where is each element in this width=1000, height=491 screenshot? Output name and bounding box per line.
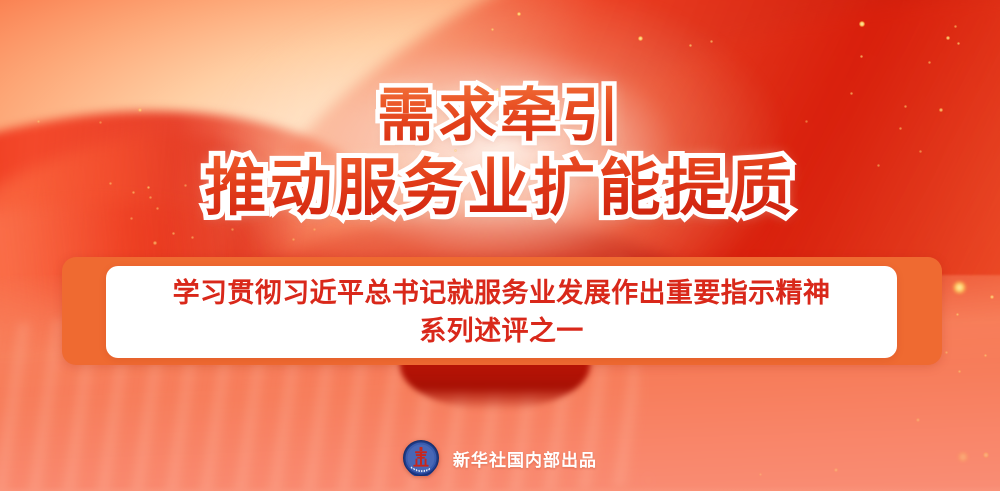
banner-poster: 需求牵引 需求牵引 推动服务业扩能提质 推动服务业扩能提质 学习贯彻习近平总书记…	[0, 0, 1000, 491]
headline-line-2-fill: 推动服务业扩能提质	[204, 154, 795, 223]
headline-line-2: 推动服务业扩能提质 推动服务业扩能提质	[0, 157, 1000, 220]
footer-credit-text: 新华社国内部出品	[453, 446, 597, 471]
subtitle-line-1: 学习贯彻习近平总书记就服务业发展作出重要指示精神	[173, 274, 831, 312]
headline-line-1: 需求牵引 需求牵引	[0, 86, 1000, 145]
headline-line-1-fill: 需求牵引	[377, 83, 623, 148]
footer-credit: 新华社国内部出品	[0, 440, 1000, 476]
subtitle-line-2: 系列述评之一	[419, 312, 583, 350]
bottom-edge	[0, 486, 1000, 491]
headline: 需求牵引 需求牵引 推动服务业扩能提质 推动服务业扩能提质	[0, 86, 1000, 220]
subtitle-card: 学习贯彻习近平总书记就服务业发展作出重要指示精神 系列述评之一	[106, 266, 897, 358]
xinhua-news-agency-emblem-icon	[403, 440, 439, 476]
